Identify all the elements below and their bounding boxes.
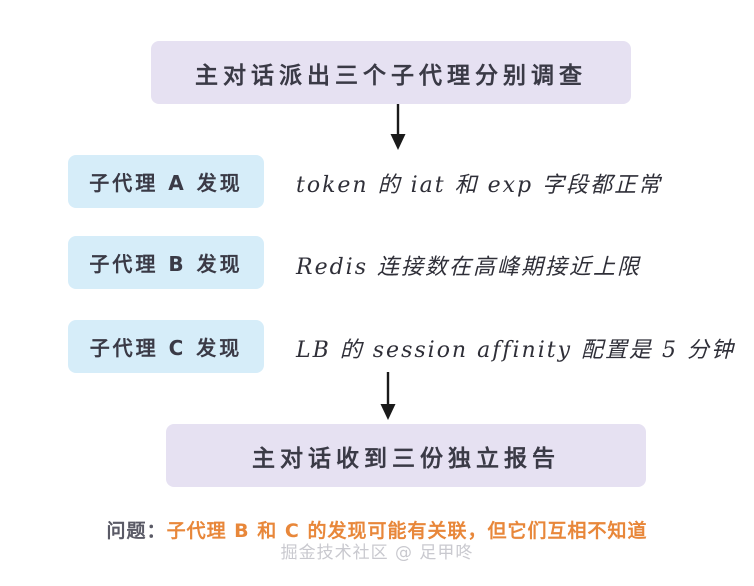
arrow-down-bottom [368, 372, 408, 422]
watermark: 掘金技术社区 @ 足甲咚 [0, 538, 754, 563]
sub-agent-c-box: 子代理 C 发现 [68, 320, 264, 373]
sub-agent-a-finding: token 的 iat 和 exp 字段都正常 [296, 167, 662, 199]
sub-agent-b-finding: Redis 连接数在高峰期接近上限 [296, 249, 641, 281]
main-dialog-reports-box: 主对话收到三份独立报告 [166, 424, 646, 487]
sub-agent-b-box: 子代理 B 发现 [68, 236, 264, 289]
diagram-canvas: 主对话派出三个子代理分别调查 子代理 A 发现 token 的 iat 和 ex… [0, 0, 754, 586]
sub-agent-a-box: 子代理 A 发现 [68, 155, 264, 208]
main-dialog-dispatch-box: 主对话派出三个子代理分别调查 [151, 41, 631, 104]
sub-agent-c-finding: LB 的 session affinity 配置是 5 分钟 [296, 332, 735, 364]
arrow-down-top [378, 104, 418, 152]
